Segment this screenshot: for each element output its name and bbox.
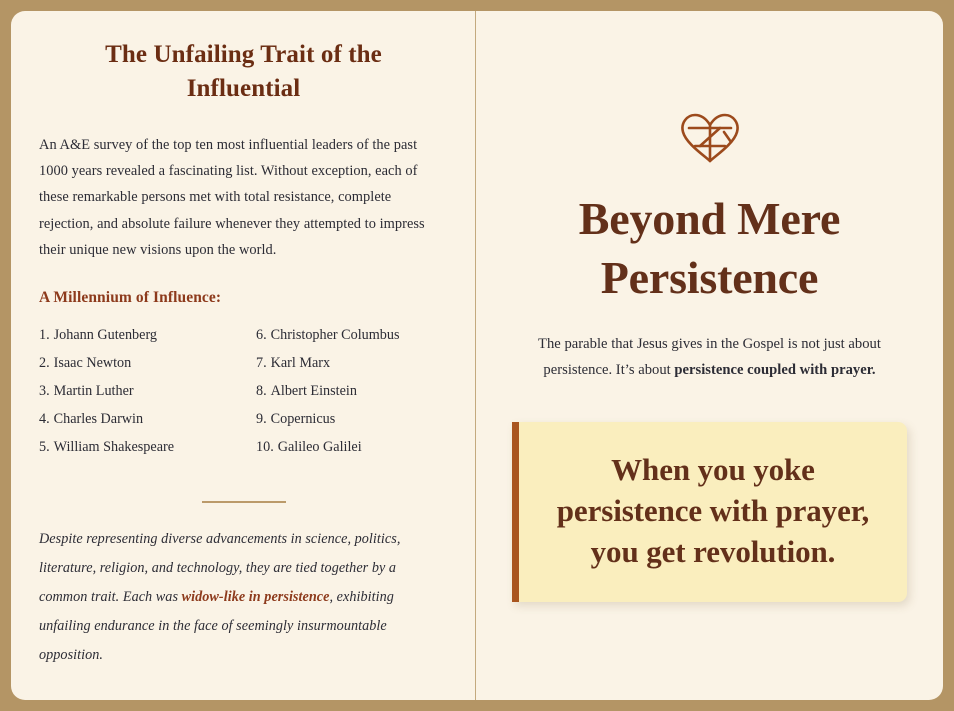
list-item-label: Johann Gutenberg xyxy=(54,327,157,343)
list-item-number: 8. xyxy=(256,383,267,399)
list-item: 8.Albert Einstein xyxy=(256,377,448,405)
right-body-emphasis: persistence coupled with prayer. xyxy=(674,362,875,378)
callout-quote-text: When you yoke persistence with prayer, y… xyxy=(545,450,881,573)
list-item-label: Karl Marx xyxy=(271,355,331,371)
list-item-number: 9. xyxy=(256,411,267,427)
list-item: 5.William Shakespeare xyxy=(39,433,256,461)
list-item-label: Isaac Newton xyxy=(54,355,132,371)
list-item-label: Charles Darwin xyxy=(54,411,143,427)
list-item-number: 6. xyxy=(256,327,267,343)
page-frame: The Unfailing Trait of the Influential A… xyxy=(0,0,954,711)
right-panel-body-paragraph: The parable that Jesus gives in the Gosp… xyxy=(512,332,908,384)
leaders-list: 1.Johann Gutenberg 6.Christopher Columbu… xyxy=(39,321,448,461)
list-item: 3.Martin Luther xyxy=(39,377,256,405)
note-emphasis: widow-like in persistence xyxy=(182,589,330,605)
right-panel: Beyond Mere Persistence The parable that… xyxy=(476,11,943,700)
list-item: 7.Karl Marx xyxy=(256,349,448,377)
list-item-number: 1. xyxy=(39,327,50,343)
list-item-label: Martin Luther xyxy=(54,383,134,399)
list-item-number: 10. xyxy=(256,439,274,455)
list-item-label: Copernicus xyxy=(271,411,336,427)
list-item-number: 5. xyxy=(39,439,50,455)
list-item: 2.Isaac Newton xyxy=(39,349,256,377)
list-item: 10.Galileo Galilei xyxy=(256,433,448,461)
quote-callout: When you yoke persistence with prayer, y… xyxy=(512,422,907,603)
list-item: 9.Copernicus xyxy=(256,405,448,433)
list-item: 1.Johann Gutenberg xyxy=(39,321,256,349)
millennium-subheading: A Millennium of Influence: xyxy=(39,289,448,307)
left-panel: The Unfailing Trait of the Influential A… xyxy=(11,11,476,700)
list-item-number: 4. xyxy=(39,411,50,427)
list-item-label: William Shakespeare xyxy=(54,439,174,455)
page-title: Beyond Mere Persistence xyxy=(504,190,915,308)
heart-gem-icon xyxy=(678,111,742,163)
list-item: 4.Charles Darwin xyxy=(39,405,256,433)
content-card: The Unfailing Trait of the Influential A… xyxy=(11,11,943,700)
list-item-label: Galileo Galilei xyxy=(278,439,362,455)
left-panel-closing-note: Despite representing diverse advancement… xyxy=(39,525,448,671)
list-item: 6.Christopher Columbus xyxy=(256,321,448,349)
list-item-number: 3. xyxy=(39,383,50,399)
left-panel-body-paragraph: An A&E survey of the top ten most influe… xyxy=(39,132,448,263)
section-divider xyxy=(202,501,286,503)
left-panel-title: The Unfailing Trait of the Influential xyxy=(39,38,448,106)
list-item-label: Christopher Columbus xyxy=(271,327,400,343)
list-item-number: 2. xyxy=(39,355,50,371)
list-item-number: 7. xyxy=(256,355,267,371)
list-item-label: Albert Einstein xyxy=(271,383,357,399)
